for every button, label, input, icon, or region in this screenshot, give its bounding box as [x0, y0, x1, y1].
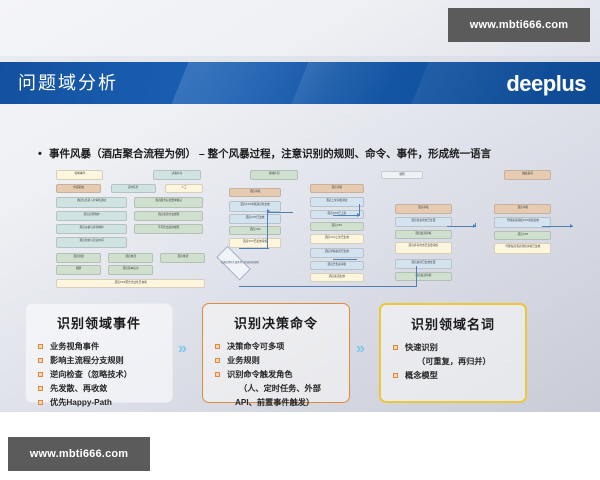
summary-box-item-label: （可重复，再归并）: [417, 357, 491, 366]
diagram-sticky-note: 酒店库存状态已变更审核: [395, 242, 452, 254]
diagram-connector: [447, 226, 475, 227]
diagram-sticky-note: 酒店渠道审核: [395, 230, 452, 239]
list-bullet-icon: [38, 386, 43, 391]
diagram-sticky-note: 酒店审核: [395, 204, 452, 213]
page-title: 问题域分析: [18, 62, 118, 104]
summary-box-item: （可重复，再归并）: [393, 355, 521, 369]
summary-box-item-label: 影响主流程分支规则: [50, 356, 124, 365]
diagram-sticky-note: 人工: [165, 184, 203, 193]
summary-box-item: 逆向检查（忽略技术）: [38, 368, 168, 382]
summary-box-item-label: 先发散、再收敛: [50, 384, 107, 393]
diagram-sticky-note: 酒店电话: [108, 253, 153, 263]
diagram-sticky-note: 定时任务: [111, 184, 156, 193]
diagram-connector: [267, 212, 293, 213]
summary-box-identify-domain-events[interactable]: 识别领域事件 业务视角事件影响主流程分支规则逆向检查（忽略技术）先发散、再收敛优…: [25, 303, 173, 403]
slide-header-band: 问题域分析 deeplus: [0, 62, 600, 104]
diagram-sticky-note: 酒店审核: [494, 204, 551, 213]
diagram-sticky-note: 酒店渠道已生效变更: [395, 259, 452, 269]
summary-box-list: 决策命令可多项业务规则识别命令触发角色（人、定时任务、外部API、前置事件触发）: [203, 340, 349, 411]
bullet-heading: •事件风暴（酒店聚合流程为例） – 整个风暴过程，注意识别的规则、命令、事件，形…: [38, 146, 583, 161]
diagram-sticky-note: 酒店渠道审核: [395, 272, 452, 281]
diagram-arrowhead-icon: [357, 213, 360, 217]
summary-box-item: 影响主流程分支规则: [38, 354, 168, 368]
diagram-sticky-note: 酒店渠道分发规则: [134, 211, 203, 221]
summary-box-item: 优先Happy-Path: [38, 396, 168, 410]
summary-box-item-label: 快速识别: [405, 343, 438, 352]
diagram-arrowhead-icon: [267, 209, 270, 213]
diagram-sticky-note: 酒店电话: [160, 253, 205, 263]
diagram-sticky-note: 酒店售卖状态已变更: [395, 217, 452, 227]
event-storming-diagram: 领域事件决策命令领域名词规则触发渠道外部系统定时任务人工酒店信息录入并审核通过酒…: [30, 168, 575, 290]
summary-box-title: 识别决策命令: [203, 313, 349, 332]
diagram-sticky-note: 领域名词: [250, 170, 297, 180]
watermark-top: www.mbti666.com: [448, 8, 590, 42]
summary-box-identify-decision-commands[interactable]: 识别决策命令 决策命令可多项业务规则识别命令触发角色（人、定时任务、外部API、…: [202, 303, 350, 403]
summary-box-title: 识别领域名词: [381, 314, 525, 333]
diagram-sticky-note: 代理渠道酒店授权审核已生效: [494, 243, 551, 255]
diagram-sticky-note: 规则: [381, 171, 424, 179]
diagram-connector: [239, 248, 270, 249]
diagram-connector: [416, 266, 417, 287]
diagram-sticky-note: 酒店XXX审核通过并生效: [229, 201, 281, 212]
list-bullet-icon: [393, 373, 398, 378]
list-bullet-icon: [38, 358, 43, 363]
summary-box-item-label: 业务规则: [227, 356, 260, 365]
bullet-text: 事件风暴（酒店聚合流程为例） – 整个风暴过程，注意识别的规则、命令、事件，形成…: [49, 148, 491, 160]
diagram-decision-label: 已满足所有生效条件与状态校验规则: [218, 262, 261, 265]
summary-box-item-label: API、前置事件触发）: [235, 398, 314, 407]
flow-arrow-1-icon: »: [178, 340, 184, 358]
summary-box-list: 业务视角事件影响主流程分支规则逆向检查（忽略技术）先发散、再收敛优先Happy-…: [26, 340, 172, 411]
summary-box-item: 识别命令触发角色: [215, 368, 345, 382]
diagram-sticky-note: 酒店XXX: [494, 231, 551, 240]
diagram-sticky-note: 酒店上架审核通过: [310, 197, 365, 207]
diagram-sticky-note: 决策命令: [153, 170, 200, 180]
diagram-sticky-note: 外部系统: [56, 184, 101, 193]
diagram-sticky-note: 酒店详情渠道已生效: [310, 248, 365, 258]
diagram-sticky-note: 酒店已售卖审核: [310, 261, 365, 270]
diagram-sticky-note: 领域事件: [56, 170, 103, 180]
diagram-sticky-note: 酒店渠道生效: [310, 273, 365, 282]
summary-box-item: 先发散、再收敛: [38, 382, 168, 396]
summary-box-item: 快速识别: [393, 341, 521, 355]
diagram-connector: [333, 215, 359, 216]
diagram-sticky-note: 酒店XXX聚合企业性已校验: [56, 279, 205, 288]
diagram-sticky-note: 酒店XXX上架已生效: [310, 234, 365, 245]
summary-box-item-label: （人、定时任务、外部: [239, 384, 321, 393]
header-sheen-2: [292, 62, 399, 104]
list-bullet-icon: [215, 372, 220, 377]
diagram-sticky-note: 酒店创建: [56, 253, 101, 263]
bullet-marker: •: [38, 148, 49, 160]
deeplus-logo: deeplus: [506, 62, 586, 104]
diagram-connector: [267, 212, 268, 249]
diagram-connector: [542, 226, 573, 227]
diagram-arrowhead-icon: [570, 224, 573, 228]
diagram-sticky-note: 酒店价格与库存维护: [56, 224, 127, 235]
diagram-sticky-note: 酒店XXX: [310, 222, 365, 231]
list-bullet-icon: [215, 358, 220, 363]
list-bullet-icon: [38, 372, 43, 377]
diagram-sticky-note: 酒店信息录入并审核通过: [56, 197, 127, 208]
summary-box-item: （人、定时任务、外部: [215, 382, 345, 396]
summary-box-item: 概念模型: [393, 369, 521, 383]
summary-box-item-label: 业务视角事件: [50, 342, 99, 351]
diagram-connector: [239, 286, 417, 287]
diagram-sticky-note: 酒店审核: [229, 188, 281, 197]
diagram-arrowhead-icon: [473, 224, 476, 228]
summary-box-title: 识别领域事件: [26, 313, 172, 332]
diagram-sticky-note: 相册: [56, 265, 101, 274]
diagram-sticky-note: 酒店基本信息: [108, 265, 153, 274]
summary-box-item-label: 优先Happy-Path: [50, 398, 112, 407]
diagram-sticky-note: 酒店状态与营业时间: [56, 237, 127, 248]
summary-box-item: 业务规则: [215, 354, 345, 368]
diagram-sticky-note: 酒店XXX已生效审核: [229, 238, 281, 248]
watermark-bottom: www.mbti666.com: [8, 437, 150, 471]
summary-box-item-label: 识别命令触发角色: [227, 370, 293, 379]
summary-box-item: 业务视角事件: [38, 340, 168, 354]
diagram-sticky-note: 触发渠道: [504, 170, 551, 180]
diagram-sticky-note: 酒店服务标准要求确认: [134, 197, 203, 208]
diagram-sticky-note: 酒店XXX: [229, 226, 281, 235]
summary-box-item: 决策命令可多项: [215, 340, 345, 354]
list-bullet-icon: [38, 400, 43, 405]
summary-box-item-label: 决策命令可多项: [227, 342, 284, 351]
summary-box-list: 快速识别（可重复，再归并）概念模型: [381, 341, 525, 383]
summary-box-item-label: 概念模型: [405, 371, 438, 380]
list-bullet-icon: [393, 345, 398, 350]
slide-canvas: 问题域分析 deeplus •事件风暴（酒店聚合流程为例） – 整个风暴过程，注…: [0, 0, 600, 412]
summary-box-item-label: 逆向检查（忽略技术）: [50, 370, 132, 379]
diagram-sticky-note: 酒店审核: [310, 184, 365, 193]
diagram-sticky-note: 酒店XXX已生效: [229, 214, 281, 223]
diagram-sticky-note: 酒店房型维护: [56, 211, 127, 221]
flow-arrow-2-icon: »: [356, 340, 362, 358]
diagram-connector: [333, 259, 357, 260]
summary-box-identify-domain-nouns[interactable]: 识别领域名词 快速识别（可重复，再归并）概念模型: [379, 303, 527, 403]
diagram-sticky-note: 不可售出退款规则: [134, 224, 203, 235]
list-bullet-icon: [215, 344, 220, 349]
summary-box-item: API、前置事件触发）: [215, 396, 345, 410]
list-bullet-icon: [38, 344, 43, 349]
